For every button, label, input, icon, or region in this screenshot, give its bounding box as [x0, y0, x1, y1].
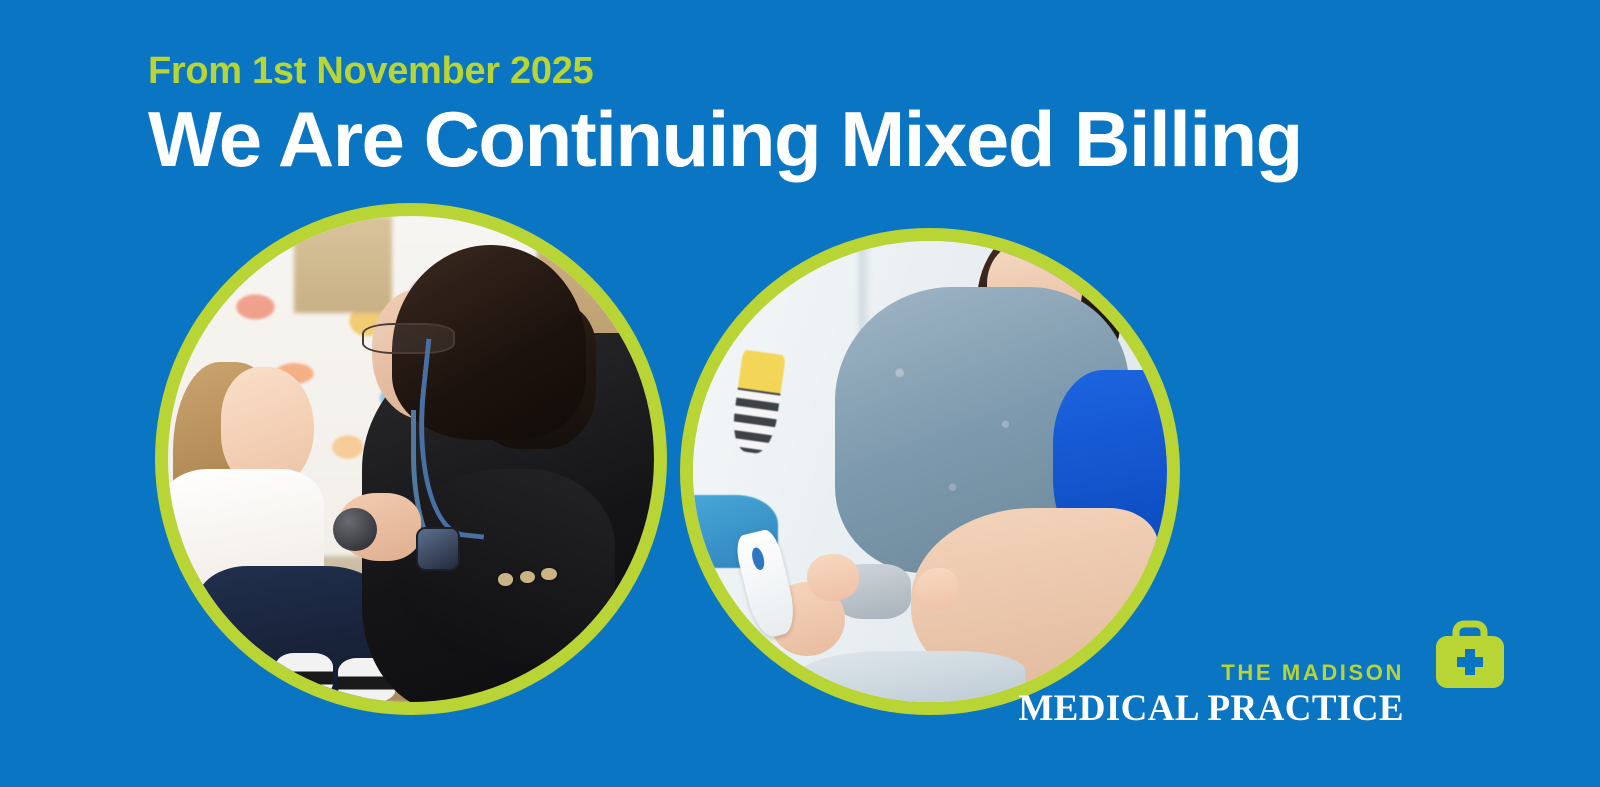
logo-wordmark: THE MADISON MEDICAL PRACTICE	[1018, 662, 1404, 727]
logo-line-the-madison: THE MADISON	[1018, 662, 1404, 684]
photo-circle-doctor-examining-child	[155, 203, 667, 715]
practice-logo: THE MADISON MEDICAL PRACTICE	[1018, 616, 1514, 727]
child-shoe-left	[275, 653, 333, 697]
promo-banner: From 1st November 2025 We Are Continuing…	[0, 0, 1600, 787]
logo-line-medical-practice: MEDICAL PRACTICE	[1018, 690, 1404, 727]
photo-doctor-examining-child	[168, 216, 654, 702]
blazer-button-1	[498, 573, 514, 586]
wood-panel-left	[294, 216, 391, 313]
photo-frame-left	[168, 216, 654, 702]
page-title: We Are Continuing Mixed Billing	[148, 98, 1448, 181]
eyebrow-date: From 1st November 2025	[148, 52, 1448, 92]
baby-hand	[807, 554, 859, 600]
doctor-smartwatch	[416, 527, 460, 571]
stethoscope-chestpiece	[333, 508, 377, 552]
medical-bag-icon	[1426, 616, 1514, 701]
headline-block: From 1st November 2025 We Are Continuing…	[148, 52, 1448, 181]
baby-foot	[916, 568, 959, 609]
baby-blanket	[797, 651, 1025, 702]
